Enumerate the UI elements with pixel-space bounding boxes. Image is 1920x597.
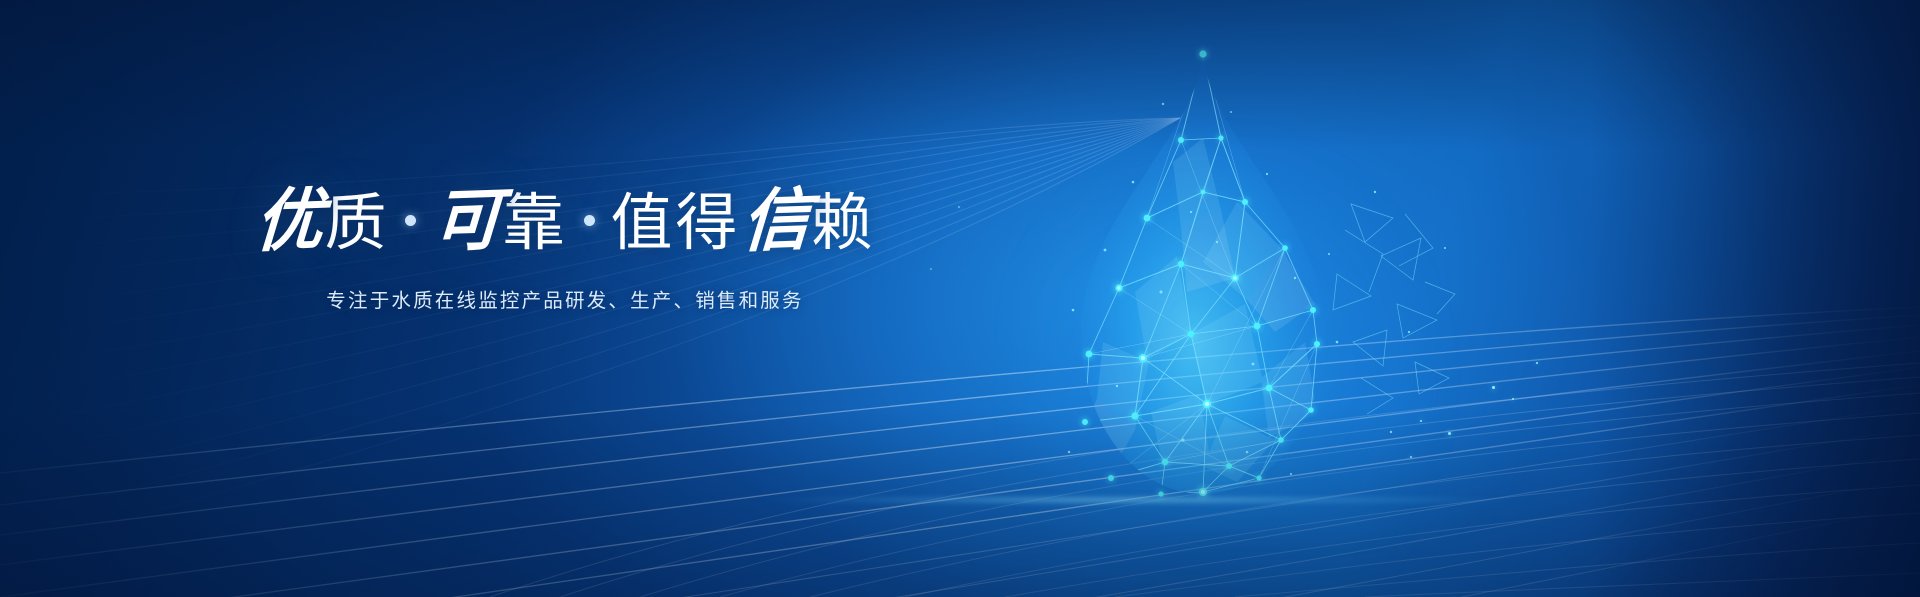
headline-char-7: 赖 — [811, 191, 876, 258]
headline-char-3: 可 — [430, 184, 504, 260]
headline-char-6: 信 — [739, 184, 813, 260]
headline-separator-2 — [584, 215, 595, 226]
headline-separator-1 — [405, 215, 416, 226]
hero-banner: 优质可靠值得信赖 专注于水质在线监控产品研发、生产、销售和服务 — [0, 0, 1920, 597]
headline-char-2: 质 — [324, 191, 389, 258]
banner-subtitle: 专注于水质在线监控产品研发、生产、销售和服务 — [0, 284, 1130, 313]
banner-headline: 优质可靠值得信赖 — [0, 185, 1130, 258]
headline-char-4: 靠 — [502, 191, 567, 258]
banner-copy: 优质可靠值得信赖 专注于水质在线监控产品研发、生产、销售和服务 — [0, 185, 1130, 313]
headline-char-1: 优 — [252, 184, 326, 260]
headline-char-5: 值得 — [611, 191, 741, 258]
